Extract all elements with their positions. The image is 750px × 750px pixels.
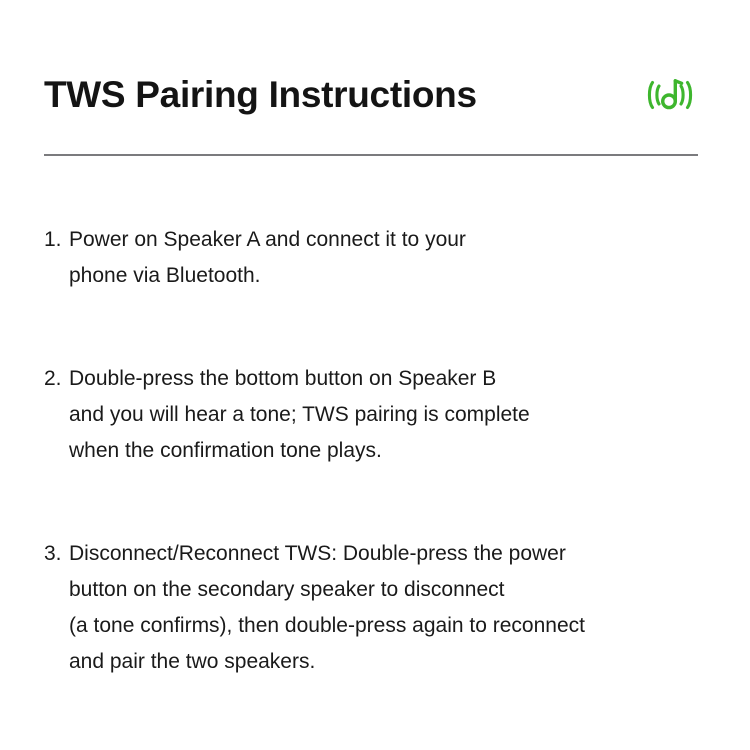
step-number: 3.	[44, 536, 69, 572]
music-note-wireless-icon	[642, 70, 698, 120]
step-text: Disconnect/Reconnect TWS: Double-press t…	[69, 536, 712, 680]
step-text: Double-press the bottom button on Speake…	[69, 361, 712, 469]
header-divider	[44, 154, 698, 156]
step-number: 1.	[44, 222, 69, 258]
card-header: TWS Pairing Instructions	[44, 64, 698, 126]
list-item: 3. Disconnect/Reconnect TWS: Double-pres…	[44, 536, 712, 680]
list-item: 1. Power on Speaker A and connect it to …	[44, 222, 712, 294]
page-title: TWS Pairing Instructions	[44, 75, 477, 116]
instructions-card: TWS Pairing Instructions 1. Power	[0, 0, 750, 750]
instruction-list: 1. Power on Speaker A and connect it to …	[44, 222, 712, 680]
list-item: 2. Double-press the bottom button on Spe…	[44, 361, 712, 469]
step-number: 2.	[44, 361, 69, 397]
step-text: Power on Speaker A and connect it to you…	[69, 222, 712, 294]
